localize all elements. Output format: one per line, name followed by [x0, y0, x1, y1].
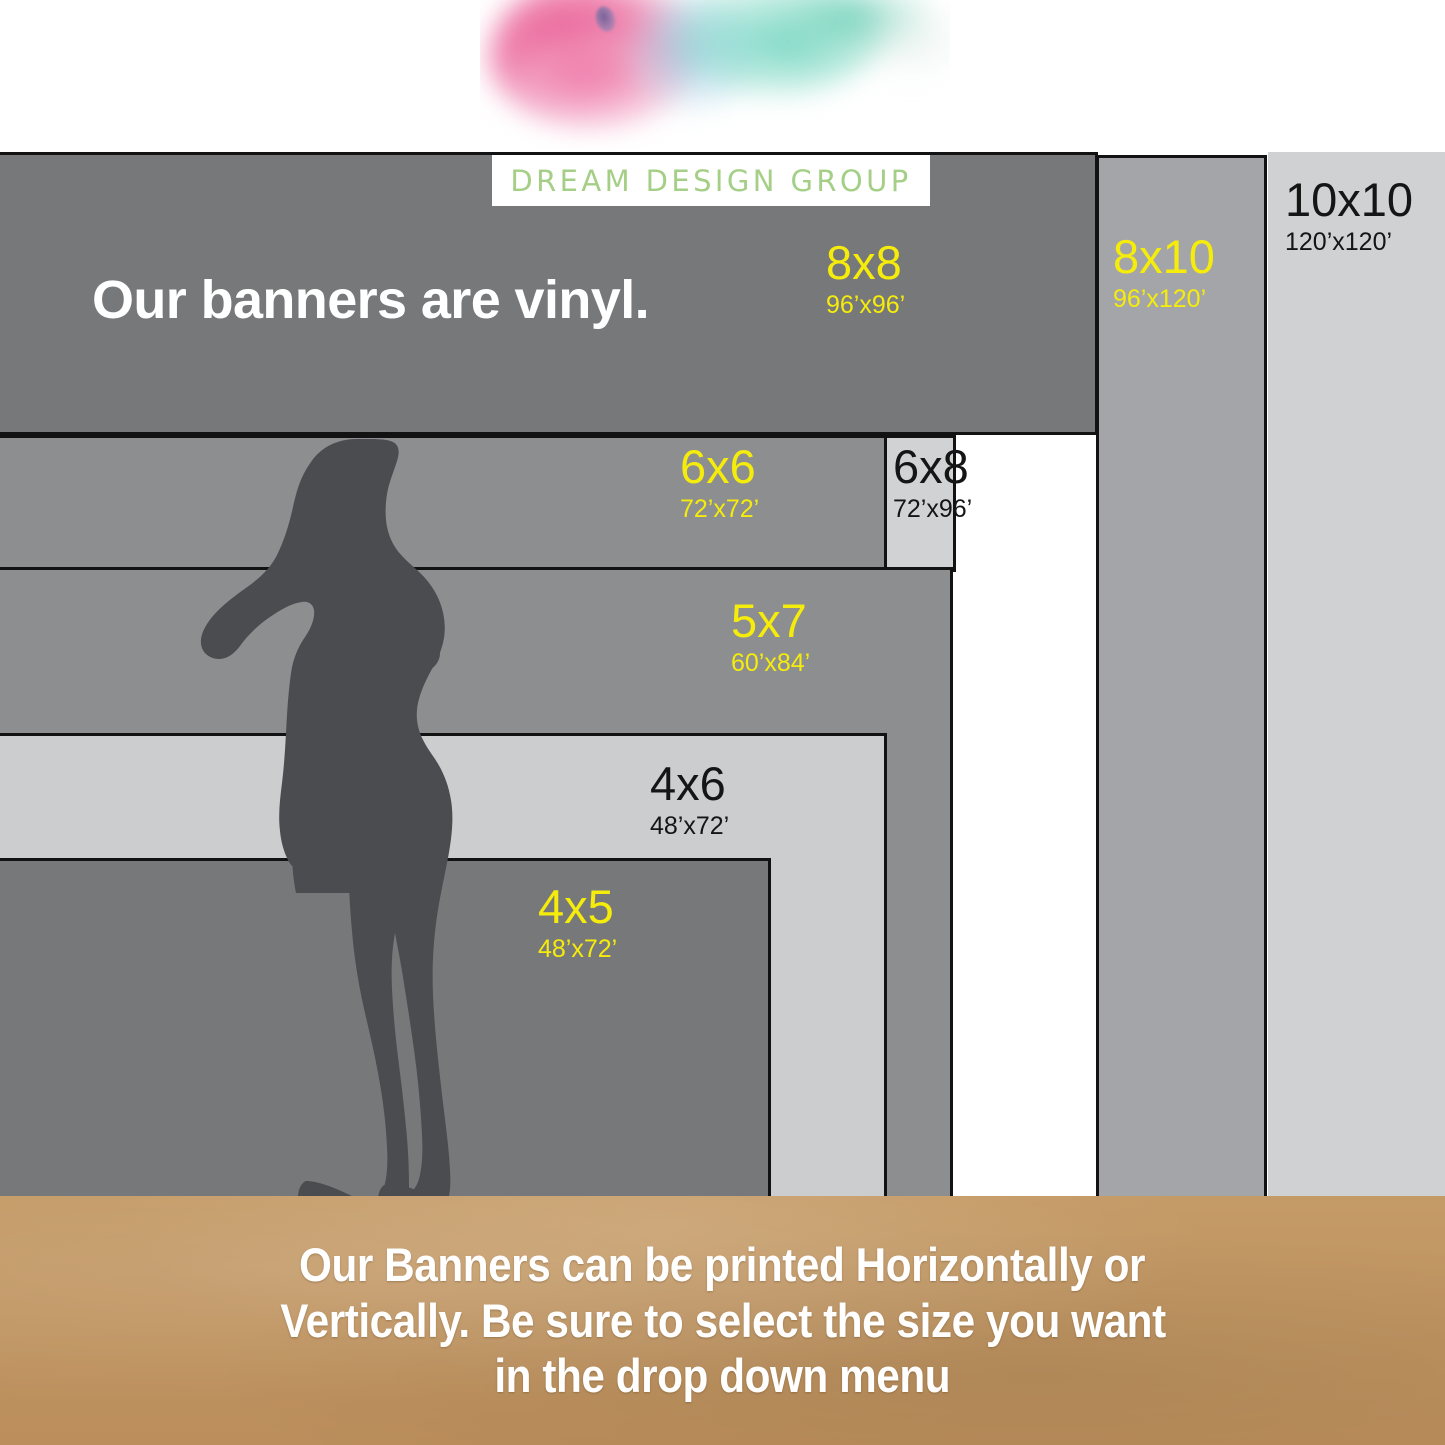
size-label-6x8: 6x8 72’x96’ — [893, 443, 972, 522]
size-label-8x10: 8x10 96’x120’ — [1113, 233, 1215, 312]
size-label-6x6: 6x6 72’x72’ — [680, 443, 759, 522]
size-name-4x6: 4x6 — [650, 760, 729, 807]
size-dimensions-6x8: 72’x96’ — [893, 497, 972, 522]
banner-size-chart: 10x10 120’x120’ 8x10 96’x120’ 8x8 96’x96… — [0, 0, 1445, 1445]
size-dimensions-6x6: 72’x72’ — [680, 497, 759, 522]
footer-line-2: Vertically. Be sure to select the size y… — [280, 1293, 1166, 1348]
logo-box: DREAM DESIGN GROUP — [492, 155, 930, 206]
size-dimensions-4x5: 48’x72’ — [538, 937, 617, 962]
size-block-10x10[interactable] — [1268, 152, 1445, 1199]
size-name-6x6: 6x6 — [680, 443, 759, 490]
size-name-6x8: 6x8 — [893, 443, 972, 490]
size-label-4x6: 4x6 48’x72’ — [650, 760, 729, 839]
size-dimensions-5x7: 60’x84’ — [731, 651, 810, 676]
logo-wordmark: DREAM DESIGN GROUP — [510, 164, 911, 198]
size-name-8x8: 8x8 — [826, 239, 905, 286]
size-dimensions-8x10: 96’x120’ — [1113, 287, 1215, 312]
page-title: Our banners are vinyl. — [92, 269, 649, 331]
watercolor-splash-icon — [480, 0, 950, 150]
size-name-10x10: 10x10 — [1285, 176, 1413, 223]
size-name-5x7: 5x7 — [731, 597, 810, 644]
size-dimensions-4x6: 48’x72’ — [650, 814, 729, 839]
size-dimensions-8x8: 96’x96’ — [826, 293, 905, 318]
size-dimensions-10x10: 120’x120’ — [1285, 230, 1413, 255]
woman-silhouette-icon — [188, 437, 488, 1227]
size-label-10x10: 10x10 120’x120’ — [1285, 176, 1413, 255]
footer-line-3: in the drop down menu — [495, 1348, 951, 1403]
footer-line-1: Our Banners can be printed Horizontally … — [299, 1237, 1145, 1292]
size-label-8x8: 8x8 96’x96’ — [826, 239, 905, 318]
size-label-5x7: 5x7 60’x84’ — [731, 597, 810, 676]
size-name-8x10: 8x10 — [1113, 233, 1215, 280]
footer-banner: Our Banners can be printed Horizontally … — [0, 1196, 1445, 1445]
size-name-4x5: 4x5 — [538, 883, 617, 930]
size-label-4x5: 4x5 48’x72’ — [538, 883, 617, 962]
